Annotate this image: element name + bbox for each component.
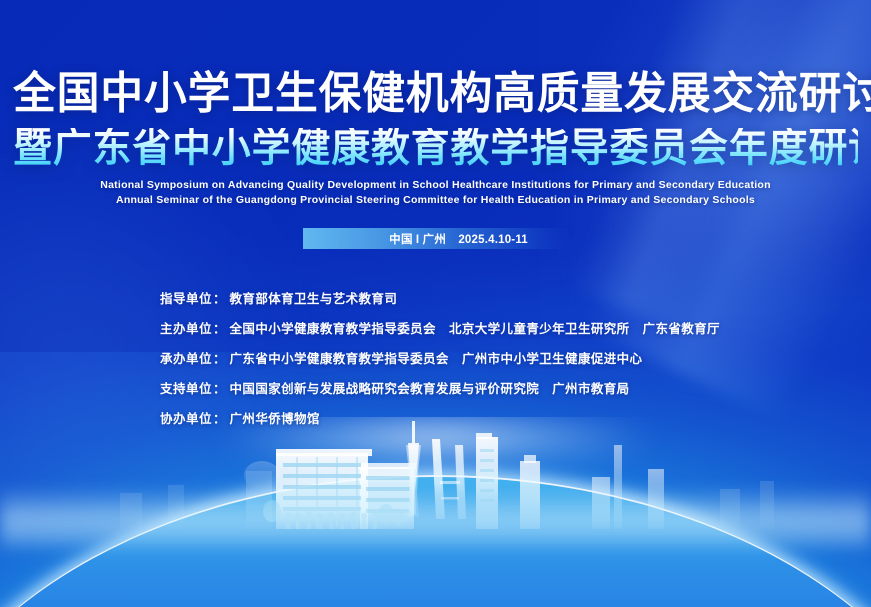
organization-entry: 广东省教育厅 — [643, 322, 720, 336]
event-bar-text: 中国I广州2025.4.10-11 — [343, 231, 528, 247]
organization-entry: 全国中小学健康教育教学指导委员会 — [230, 322, 436, 336]
organization-entries: 全国中小学健康教育教学指导委员会北京大学儿童青少年卫生研究所广东省教育厅 — [230, 318, 720, 337]
organization-row: 主办单位：全国中小学健康教育教学指导委员会北京大学儿童青少年卫生研究所广东省教育… — [160, 318, 720, 337]
organization-row: 支持单位：中国国家创新与发展战略研究会教育发展与评价研究院广州市教育局 — [160, 378, 720, 397]
event-location-date-bar: 中国I广州2025.4.10-11 — [303, 228, 569, 249]
organization-entries: 教育部体育卫生与艺术教育司 — [230, 288, 398, 307]
organization-entry: 中国国家创新与发展战略研究会教育发展与评价研究院 — [230, 382, 540, 396]
organization-colon: ： — [212, 378, 230, 397]
organization-entry: 广州市中小学卫生健康促进中心 — [462, 352, 643, 366]
organization-entries: 广东省中小学健康教育教学指导委员会广州市中小学卫生健康促进中心 — [230, 348, 643, 367]
event-city: 广州 — [423, 234, 447, 246]
organization-row: 指导单位：教育部体育卫生与艺术教育司 — [160, 288, 720, 307]
organization-colon: ： — [212, 348, 230, 367]
event-country: 中国 — [389, 234, 413, 246]
poster-content: 全国中小学卫生保健机构高质量发展交流研讨活动 暨广东省中小学健康教育教学指导委员… — [0, 0, 871, 607]
organization-row: 承办单位：广东省中小学健康教育教学指导委员会广州市中小学卫生健康促进中心 — [160, 348, 720, 367]
organization-entry: 北京大学儿童青少年卫生研究所 — [449, 322, 630, 336]
organization-label: 指导单位 — [160, 288, 212, 307]
event-separator: I — [413, 234, 423, 246]
organization-colon: ： — [212, 288, 230, 307]
organization-label: 支持单位 — [160, 378, 212, 397]
organization-colon: ： — [212, 408, 230, 427]
organization-label: 主办单位 — [160, 318, 212, 337]
conference-poster: 全国中小学卫生保健机构高质量发展交流研讨活动 暨广东省中小学健康教育教学指导委员… — [0, 0, 871, 607]
poster-title-line1: 全国中小学卫生保健机构高质量发展交流研讨活动 — [13, 72, 858, 116]
organization-entries: 中国国家创新与发展战略研究会教育发展与评价研究院广州市教育局 — [230, 378, 630, 397]
organization-entry: 广州华侨博物馆 — [230, 412, 320, 426]
organization-entries: 广州华侨博物馆 — [230, 408, 320, 427]
organization-label: 协办单位 — [160, 408, 212, 427]
organization-colon: ： — [212, 318, 230, 337]
organizations-list: 指导单位：教育部体育卫生与艺术教育司主办单位：全国中小学健康教育教学指导委员会北… — [160, 288, 720, 427]
organization-label: 承办单位 — [160, 348, 212, 367]
poster-subtitle-line2: Annual Seminar of the Guangdong Provinci… — [0, 194, 871, 206]
organization-entry: 教育部体育卫生与艺术教育司 — [230, 292, 398, 306]
organization-row: 协办单位：广州华侨博物馆 — [160, 408, 720, 427]
organization-entry: 广东省中小学健康教育教学指导委员会 — [230, 352, 449, 366]
organization-entry: 广州市教育局 — [552, 382, 629, 396]
event-dates: 2025.4.10-11 — [446, 234, 528, 246]
poster-subtitle-line1: National Symposium on Advancing Quality … — [0, 179, 871, 191]
poster-title-line2: 暨广东省中小学健康教育教学指导委员会年度研讨活动 — [13, 128, 858, 168]
